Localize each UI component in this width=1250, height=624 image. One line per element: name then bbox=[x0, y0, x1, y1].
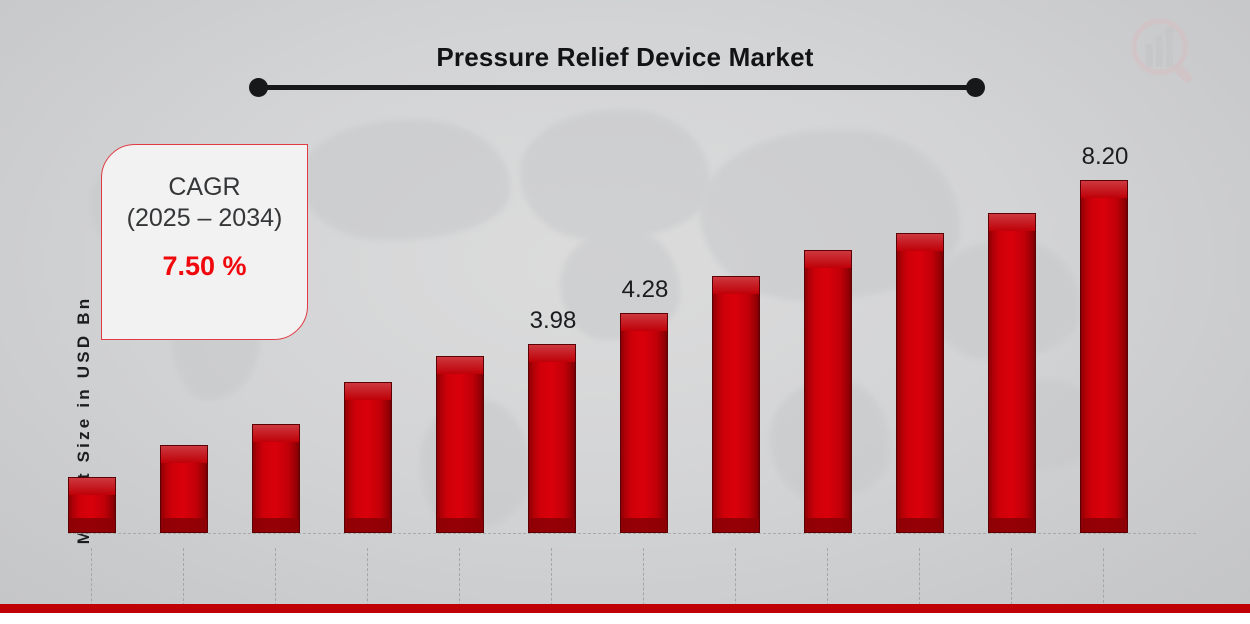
bar-2032[interactable] bbox=[896, 233, 944, 533]
bar-2018[interactable] bbox=[68, 477, 116, 533]
cagr-value: 7.50 % bbox=[162, 251, 246, 282]
bar-value-2024: 3.98 bbox=[503, 307, 603, 335]
cagr-label: CAGR bbox=[168, 173, 240, 202]
cagr-period: (2025 – 2034) bbox=[127, 204, 283, 233]
bar-2033[interactable] bbox=[988, 213, 1036, 533]
bar-2034[interactable]: 8.20 bbox=[1080, 180, 1128, 533]
bar-2026[interactable] bbox=[712, 276, 760, 533]
header-rule bbox=[258, 85, 976, 90]
chart-page: Pressure Relief Device Market Market Siz… bbox=[0, 0, 1250, 624]
bar-2021[interactable] bbox=[252, 424, 300, 533]
bar-2024[interactable]: 3.98 bbox=[528, 344, 576, 533]
bar-value-2034: 8.20 bbox=[1055, 143, 1155, 171]
footer-accent-bar bbox=[0, 604, 1250, 613]
footer-spacer bbox=[0, 613, 1250, 624]
bar-2022[interactable] bbox=[344, 382, 392, 533]
cagr-callout: CAGR (2025 – 2034) 7.50 % bbox=[101, 144, 308, 340]
header-rule-dot-right bbox=[966, 78, 985, 97]
bar-2023[interactable] bbox=[436, 356, 484, 533]
bar-2025[interactable]: 4.28 bbox=[620, 313, 668, 533]
bar-2031[interactable] bbox=[804, 250, 852, 533]
magnifier-bar-chart-watermark-icon bbox=[1124, 14, 1208, 92]
gridline-2034 bbox=[1103, 548, 1105, 603]
page-title: Pressure Relief Device Market bbox=[0, 42, 1250, 73]
x-axis-baseline bbox=[68, 533, 1196, 535]
bar-2019[interactable] bbox=[160, 445, 208, 533]
bar-value-2025: 4.28 bbox=[595, 276, 695, 304]
